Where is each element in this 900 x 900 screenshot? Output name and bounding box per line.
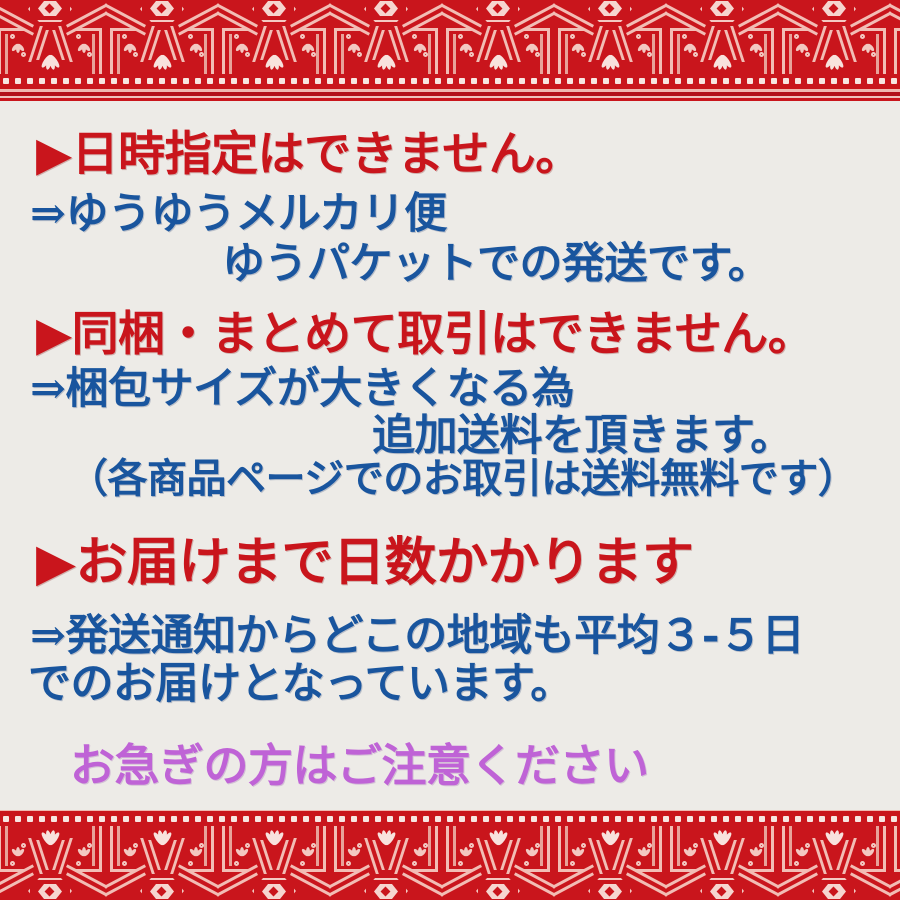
border-bead xyxy=(891,78,897,84)
motif-sprig xyxy=(458,40,474,58)
motif-pillar-cap xyxy=(412,869,438,872)
border-bead xyxy=(831,78,837,84)
border-bead xyxy=(795,78,801,84)
motif-pillar xyxy=(110,28,113,74)
motif-pillar-cap xyxy=(188,28,214,31)
motif-pillar xyxy=(558,28,561,74)
border-bead-row-top xyxy=(0,74,900,88)
motif-sprig xyxy=(682,842,698,860)
motif-pillar-inner xyxy=(229,826,232,866)
border-bead xyxy=(807,78,813,84)
motif-pillar-cap xyxy=(782,28,808,31)
motif-pillar xyxy=(446,28,449,74)
motif-pillar xyxy=(883,826,886,872)
border-bead xyxy=(255,816,261,822)
border-bead xyxy=(783,78,789,84)
motif-pillar xyxy=(211,826,214,872)
border-bead xyxy=(687,816,693,822)
border-bead xyxy=(435,816,441,822)
motif-sprig xyxy=(76,40,92,58)
border-bead xyxy=(831,816,837,822)
border-bead xyxy=(663,816,669,822)
border-bead xyxy=(159,78,165,84)
motif-pillar-cap xyxy=(636,869,662,872)
border-bead xyxy=(639,78,645,84)
border-motif xyxy=(330,0,442,74)
motif-pillar-cap xyxy=(76,869,102,872)
motif-pillar-inner xyxy=(677,826,680,866)
motif-pillar-inner xyxy=(316,34,319,74)
border-bead xyxy=(51,816,57,822)
motif-fan xyxy=(488,828,508,846)
border-bead xyxy=(531,78,537,84)
motif-pillar xyxy=(894,826,897,872)
motif-fan xyxy=(152,828,172,846)
motif-pillar xyxy=(771,28,774,74)
border-motif xyxy=(0,0,106,74)
border-bead xyxy=(591,78,597,84)
motif-pillar xyxy=(782,826,785,872)
border-bead xyxy=(495,78,501,84)
border-bead xyxy=(483,78,489,84)
border-bead xyxy=(747,78,753,84)
border-bead xyxy=(507,816,513,822)
motif-pillar-inner xyxy=(540,34,543,74)
motif-pillar xyxy=(558,826,561,872)
motif-pillar-cap xyxy=(446,869,472,872)
border-bead xyxy=(123,78,129,84)
motif-pillar-cap xyxy=(334,869,360,872)
border-bead xyxy=(759,816,765,822)
border-bead xyxy=(843,78,849,84)
border-bead xyxy=(519,816,525,822)
border-motif xyxy=(218,826,330,900)
motif-sprig xyxy=(748,842,764,860)
motif-pillar-inner xyxy=(5,826,8,866)
border-bead xyxy=(879,816,885,822)
border-bead xyxy=(327,816,333,822)
motif-pillar-inner xyxy=(341,34,344,74)
border-bead xyxy=(591,816,597,822)
motif-sprig xyxy=(524,40,540,58)
border-bead xyxy=(63,816,69,822)
motif-fan xyxy=(488,54,508,72)
motif-sprig xyxy=(300,842,316,860)
motif-fan xyxy=(824,828,844,846)
motif-pillar-inner xyxy=(229,34,232,74)
border-bead xyxy=(243,816,249,822)
motif-pillar xyxy=(771,826,774,872)
border-bead xyxy=(291,816,297,822)
border-bead xyxy=(75,78,81,84)
motif-pillar xyxy=(222,28,225,74)
border-bead xyxy=(27,816,33,822)
motif-pillar-inner xyxy=(876,34,879,74)
border-bead xyxy=(723,816,729,822)
motif-sprig xyxy=(234,842,250,860)
motif-pillar xyxy=(883,28,886,74)
border-bead xyxy=(255,78,261,84)
motif-fan xyxy=(824,54,844,72)
motif-pillar-inner xyxy=(316,826,319,866)
motif-pillar xyxy=(659,826,662,872)
motif-sprig xyxy=(636,40,652,58)
motif-pillar-cap xyxy=(110,869,136,872)
border-bead xyxy=(195,816,201,822)
border-motif xyxy=(666,0,778,74)
border-motif xyxy=(778,0,890,74)
border-bead xyxy=(147,816,153,822)
border-bead xyxy=(99,78,105,84)
border-bead xyxy=(819,78,825,84)
motif-fan xyxy=(600,828,620,846)
motif-pillar-inner xyxy=(5,34,8,74)
border-bead xyxy=(51,78,57,84)
motif-pillar-cap xyxy=(670,28,696,31)
motif-pillar xyxy=(659,28,662,74)
border-bead xyxy=(327,78,333,84)
motif-pillar-cap xyxy=(300,28,326,31)
motif-fan xyxy=(376,828,396,846)
border-bead xyxy=(291,78,297,84)
border-bead xyxy=(243,78,249,84)
motif-pillar-cap xyxy=(670,869,696,872)
motif-pillar-cap xyxy=(782,869,808,872)
border-bead xyxy=(555,816,561,822)
border-bead xyxy=(795,816,801,822)
motif-pillar xyxy=(99,826,102,872)
motif-sprig xyxy=(524,842,540,860)
motif-pillar xyxy=(99,28,102,74)
border-bead xyxy=(423,816,429,822)
border-bead xyxy=(459,816,465,822)
motif-sprig xyxy=(794,842,810,860)
border-bead xyxy=(219,78,225,84)
border-bead xyxy=(375,78,381,84)
border-bead xyxy=(627,816,633,822)
motif-fan xyxy=(264,828,284,846)
motif-pillar-inner xyxy=(764,826,767,866)
motif-sprig xyxy=(122,40,138,58)
motif-pillar-inner xyxy=(428,34,431,74)
border-bead xyxy=(771,78,777,84)
border-bead xyxy=(567,78,573,84)
border-bead xyxy=(363,816,369,822)
border-bead xyxy=(651,816,657,822)
motif-sprig xyxy=(458,842,474,860)
border-bead xyxy=(603,78,609,84)
motif-fan xyxy=(264,54,284,72)
shipping-notice-poster: ▶日時指定はできません。 ⇒ゆうゆうメルカリ便 ゆうパケットでの発送です。 ▶同… xyxy=(0,0,900,900)
border-bead xyxy=(303,816,309,822)
border-motif xyxy=(442,0,554,74)
border-bead xyxy=(195,78,201,84)
border-bead xyxy=(399,78,405,84)
border-motif xyxy=(554,826,666,900)
motif-pillar-cap xyxy=(188,869,214,872)
motif-fan xyxy=(152,54,172,72)
motif-sprig xyxy=(860,842,876,860)
motif-pillar-cap xyxy=(860,28,886,31)
border-bead xyxy=(135,816,141,822)
border-bead xyxy=(651,78,657,84)
border-motif xyxy=(0,826,106,900)
motif-pillar-inner xyxy=(876,826,879,866)
border-bead xyxy=(711,816,717,822)
border-bead xyxy=(231,816,237,822)
border-motif xyxy=(106,0,218,74)
motif-pillar-cap xyxy=(860,869,886,872)
border-bead xyxy=(63,78,69,84)
border-bead xyxy=(339,78,345,84)
border-bead-row-bottom xyxy=(0,812,900,826)
border-bead xyxy=(339,816,345,822)
border-motif xyxy=(778,826,890,900)
border-bead xyxy=(147,78,153,84)
motif-pillar-cap xyxy=(524,869,550,872)
border-bead xyxy=(507,78,513,84)
border-bead xyxy=(855,816,861,822)
border-bead xyxy=(375,816,381,822)
motif-pillar-cap xyxy=(222,28,248,31)
border-motif xyxy=(218,0,330,74)
border-motif xyxy=(442,826,554,900)
motif-pillar-cap xyxy=(0,869,24,872)
motif-sprig xyxy=(346,40,362,58)
bottom-decorative-border xyxy=(0,810,900,900)
border-bead xyxy=(663,78,669,84)
motif-pillar xyxy=(334,28,337,74)
border-bead xyxy=(495,816,501,822)
motif-pillar-inner xyxy=(764,34,767,74)
motif-pillar-cap xyxy=(558,869,584,872)
motif-pillar xyxy=(547,826,550,872)
motif-pillar-inner xyxy=(453,34,456,74)
border-bead xyxy=(111,78,117,84)
motif-pillar xyxy=(435,826,438,872)
border-bead xyxy=(783,816,789,822)
border-bead xyxy=(27,78,33,84)
motif-pillar-inner xyxy=(204,826,207,866)
motif-fan xyxy=(40,828,60,846)
border-bead xyxy=(639,816,645,822)
border-motif-row-top xyxy=(0,0,900,74)
border-bead xyxy=(879,78,885,84)
motif-pillar-inner xyxy=(92,34,95,74)
border-bead xyxy=(807,816,813,822)
motif-pillar-cap xyxy=(110,28,136,31)
motif-sprig xyxy=(570,842,586,860)
border-bead xyxy=(471,78,477,84)
motif-fan xyxy=(376,54,396,72)
border-bead xyxy=(15,78,21,84)
border-bead xyxy=(171,78,177,84)
motif-pillar-inner xyxy=(565,826,568,866)
motif-sprig xyxy=(76,842,92,860)
border-bead xyxy=(39,78,45,84)
motif-fan xyxy=(712,54,732,72)
motif-pillar-inner xyxy=(540,826,543,866)
border-bead xyxy=(543,816,549,822)
motif-pillar xyxy=(670,826,673,872)
border-bead xyxy=(75,816,81,822)
border-bead xyxy=(855,78,861,84)
border-bead xyxy=(411,78,417,84)
motif-pillar-cap xyxy=(558,28,584,31)
border-bead xyxy=(819,816,825,822)
motif-sprig xyxy=(412,842,428,860)
motif-pillar-inner xyxy=(117,826,120,866)
border-bead xyxy=(315,816,321,822)
border-bead xyxy=(183,78,189,84)
border-bead xyxy=(579,78,585,84)
border-bead xyxy=(627,78,633,84)
section-3-heading: ▶お届けまで日数かかります xyxy=(36,520,694,595)
border-bead xyxy=(735,78,741,84)
motif-pillar xyxy=(782,28,785,74)
motif-pillar-inner xyxy=(204,34,207,74)
border-bead xyxy=(207,78,213,84)
motif-sprig xyxy=(300,40,316,58)
motif-pillar-cap xyxy=(748,869,774,872)
motif-pillar-inner xyxy=(789,826,792,866)
notice-content: ▶日時指定はできません。 ⇒ゆうゆうメルカリ便 ゆうパケットでの発送です。 ▶同… xyxy=(0,101,900,812)
border-bead xyxy=(315,78,321,84)
motif-fan xyxy=(40,54,60,72)
border-bead xyxy=(135,78,141,84)
border-bead xyxy=(567,816,573,822)
border-bead xyxy=(351,78,357,84)
motif-pillar-inner xyxy=(789,34,792,74)
border-motif xyxy=(666,826,778,900)
border-bead xyxy=(99,816,105,822)
border-bead xyxy=(543,78,549,84)
border-bead xyxy=(471,816,477,822)
motif-sprig xyxy=(682,40,698,58)
motif-pillar xyxy=(0,826,1,872)
border-bead xyxy=(435,78,441,84)
border-bead xyxy=(159,816,165,822)
border-motif xyxy=(554,0,666,74)
motif-pillar-cap xyxy=(0,28,24,31)
border-motif xyxy=(890,826,900,900)
motif-pillar xyxy=(211,28,214,74)
border-bead xyxy=(867,78,873,84)
border-motif xyxy=(890,0,900,74)
motif-pillar-cap xyxy=(76,28,102,31)
motif-pillar-inner xyxy=(565,34,568,74)
border-bead xyxy=(735,816,741,822)
top-decorative-border xyxy=(0,0,900,101)
motif-sprig xyxy=(860,40,876,58)
motif-sprig xyxy=(122,842,138,860)
border-bead xyxy=(363,78,369,84)
motif-sprig xyxy=(412,40,428,58)
motif-pillar xyxy=(547,28,550,74)
section-2-subline-3: （各商品ページでのお取引は送料無料です） xyxy=(68,446,857,504)
border-motif xyxy=(106,826,218,900)
section-3-subline-2: でのお届けとなっています。 xyxy=(28,649,573,711)
border-bead xyxy=(555,78,561,84)
motif-sprig xyxy=(794,40,810,58)
border-bead xyxy=(411,816,417,822)
section-1-heading: ▶日時指定はできません。 xyxy=(36,115,582,184)
border-bead xyxy=(351,816,357,822)
border-bead xyxy=(843,816,849,822)
border-bead xyxy=(387,816,393,822)
border-bead xyxy=(519,78,525,84)
motif-pillar-cap xyxy=(524,28,550,31)
motif-pillar-cap xyxy=(636,28,662,31)
border-bead xyxy=(279,78,285,84)
border-bead xyxy=(675,816,681,822)
motif-pillar xyxy=(894,28,897,74)
border-motif-row-bottom xyxy=(0,826,900,900)
motif-sprig xyxy=(748,40,764,58)
motif-pillar-cap xyxy=(894,869,900,872)
border-bead xyxy=(267,78,273,84)
border-bead xyxy=(891,816,897,822)
motif-pillar xyxy=(446,826,449,872)
border-bead xyxy=(183,816,189,822)
motif-pillar xyxy=(670,28,673,74)
motif-fan xyxy=(600,54,620,72)
motif-pillar-cap xyxy=(894,28,900,31)
border-bead xyxy=(423,78,429,84)
motif-sprig xyxy=(570,40,586,58)
border-bead xyxy=(207,816,213,822)
border-bead xyxy=(483,816,489,822)
motif-pillar-cap xyxy=(446,28,472,31)
motif-sprig xyxy=(10,842,26,860)
border-bead xyxy=(87,78,93,84)
border-bead xyxy=(3,78,9,84)
motif-sprig xyxy=(346,842,362,860)
motif-pillar xyxy=(323,28,326,74)
motif-sprig xyxy=(636,842,652,860)
border-bead xyxy=(747,816,753,822)
motif-pillar-inner xyxy=(677,34,680,74)
border-bead xyxy=(111,816,117,822)
border-bead xyxy=(123,816,129,822)
border-bead xyxy=(867,816,873,822)
border-bead xyxy=(459,78,465,84)
border-bead xyxy=(15,816,21,822)
border-bead xyxy=(699,816,705,822)
border-motif xyxy=(330,826,442,900)
border-bead xyxy=(603,816,609,822)
border-bead xyxy=(267,816,273,822)
border-bead xyxy=(771,816,777,822)
motif-pillar xyxy=(110,826,113,872)
border-bead xyxy=(399,816,405,822)
motif-pillar-inner xyxy=(92,826,95,866)
motif-pillar xyxy=(435,28,438,74)
border-bead xyxy=(699,78,705,84)
motif-pillar-cap xyxy=(300,869,326,872)
motif-pillar-inner xyxy=(117,34,120,74)
motif-fan xyxy=(712,828,732,846)
motif-pillar-cap xyxy=(222,869,248,872)
motif-pillar xyxy=(222,826,225,872)
border-bead xyxy=(219,816,225,822)
motif-pillar-cap xyxy=(748,28,774,31)
motif-pillar-inner xyxy=(428,826,431,866)
motif-sprig xyxy=(188,40,204,58)
motif-sprig xyxy=(10,40,26,58)
border-bead xyxy=(447,816,453,822)
motif-pillar-inner xyxy=(652,34,655,74)
